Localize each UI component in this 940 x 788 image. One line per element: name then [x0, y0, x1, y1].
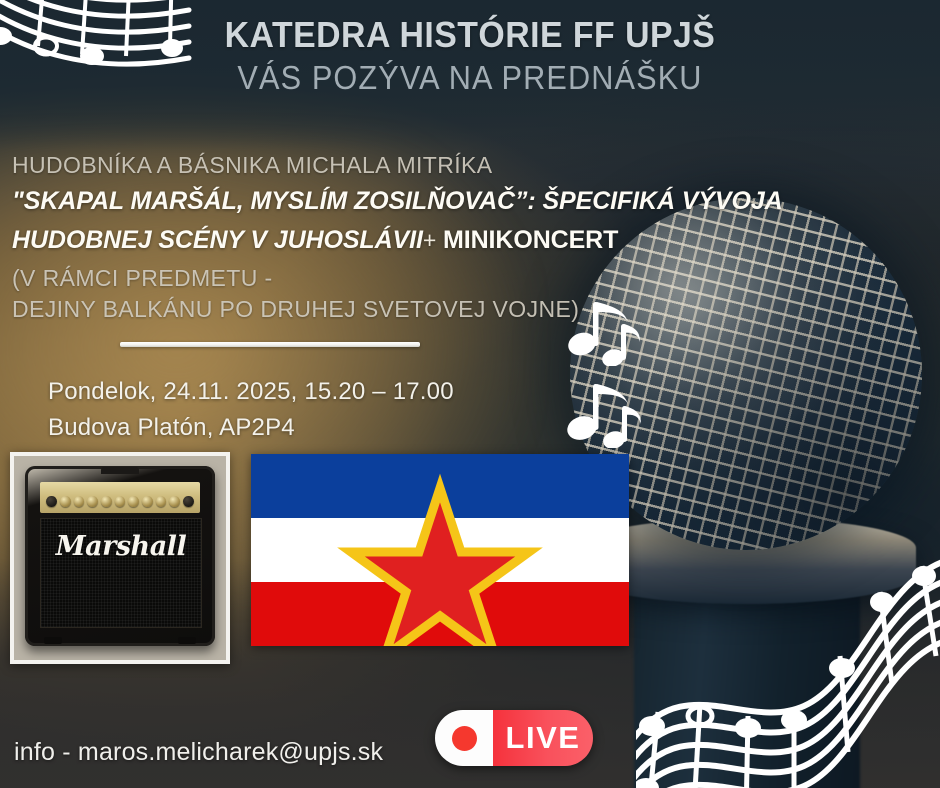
contact-info: info - maros.melicharek@upjs.sk	[14, 738, 383, 767]
amp-speaker-grille: Marshall	[40, 518, 202, 628]
poster-header: KATEDRA HISTÓRIE FF UPJŠ VÁS POZÝVA NA P…	[0, 0, 940, 96]
lecture-title-italic-part: HUDOBNEJ SCÉNY V JUHOSLÁVII	[12, 226, 423, 254]
amp-power-knob	[183, 496, 194, 507]
live-badge-label: LIVE	[493, 710, 593, 766]
marshall-amplifier-image: Marshall	[10, 452, 230, 664]
amp-photo-inner: Marshall	[14, 456, 226, 660]
amp-brand-logo: Marshall	[41, 531, 201, 562]
amp-knob	[156, 496, 167, 507]
context-line-2: DEJINY BALKÁNU PO DRUHEJ SVETOVEJ VOJNE)	[12, 294, 842, 324]
section-divider	[120, 342, 420, 347]
amp-knob	[101, 496, 112, 507]
page-title: KATEDRA HISTÓRIE FF UPJŠ	[28, 16, 912, 54]
amp-knob	[46, 496, 57, 507]
live-badge: LIVE	[435, 710, 593, 766]
event-details: Pondelok, 24.11. 2025, 15.20 – 17.00 Bud…	[48, 374, 454, 445]
amp-knob	[74, 496, 85, 507]
flag-star-icon	[251, 454, 629, 646]
lecture-title-minikoncert: MINIKONCERT	[443, 226, 618, 254]
amp-handle	[101, 467, 139, 474]
lecture-title-line1: "SKAPAL MARŠÁL, MYSLÍM ZOSILŇOVAČ”: ŠPEC…	[12, 184, 842, 219]
lecture-title-plus: +	[423, 227, 436, 253]
amp-knob-row	[46, 495, 193, 509]
amp-knob	[128, 496, 139, 507]
amp-feet	[44, 637, 197, 644]
lecture-info-block: HUDOBNÍKA A BÁSNIKA MICHALA MITRÍKA "SKA…	[12, 150, 842, 324]
amp-knob	[87, 496, 98, 507]
record-dot-icon	[452, 726, 477, 751]
lecture-title-line2: HUDOBNEJ SCÉNY V JUHOSLÁVII+ MINIKONCERT	[12, 223, 842, 258]
amp-control-panel	[40, 482, 200, 513]
event-datetime: Pondelok, 24.11. 2025, 15.20 – 17.00	[48, 374, 454, 410]
amp-cabinet: Marshall	[25, 466, 216, 646]
amp-knob	[60, 496, 71, 507]
amp-knob	[115, 496, 126, 507]
amp-knob	[169, 496, 180, 507]
live-badge-dot-area	[435, 710, 493, 766]
page-subtitle: VÁS POZÝVA NA PREDNÁŠKU	[33, 60, 907, 96]
event-venue: Budova Platón, AP2P4	[48, 410, 454, 446]
presenter-line: HUDOBNÍKA A BÁSNIKA MICHALA MITRÍKA	[12, 150, 842, 180]
amp-knob	[142, 496, 153, 507]
context-line-1: (V RÁMCI PREDMETU -	[12, 263, 842, 293]
yugoslavia-flag-image	[251, 454, 629, 646]
event-poster: KATEDRA HISTÓRIE FF UPJŠ VÁS POZÝVA NA P…	[0, 0, 940, 788]
